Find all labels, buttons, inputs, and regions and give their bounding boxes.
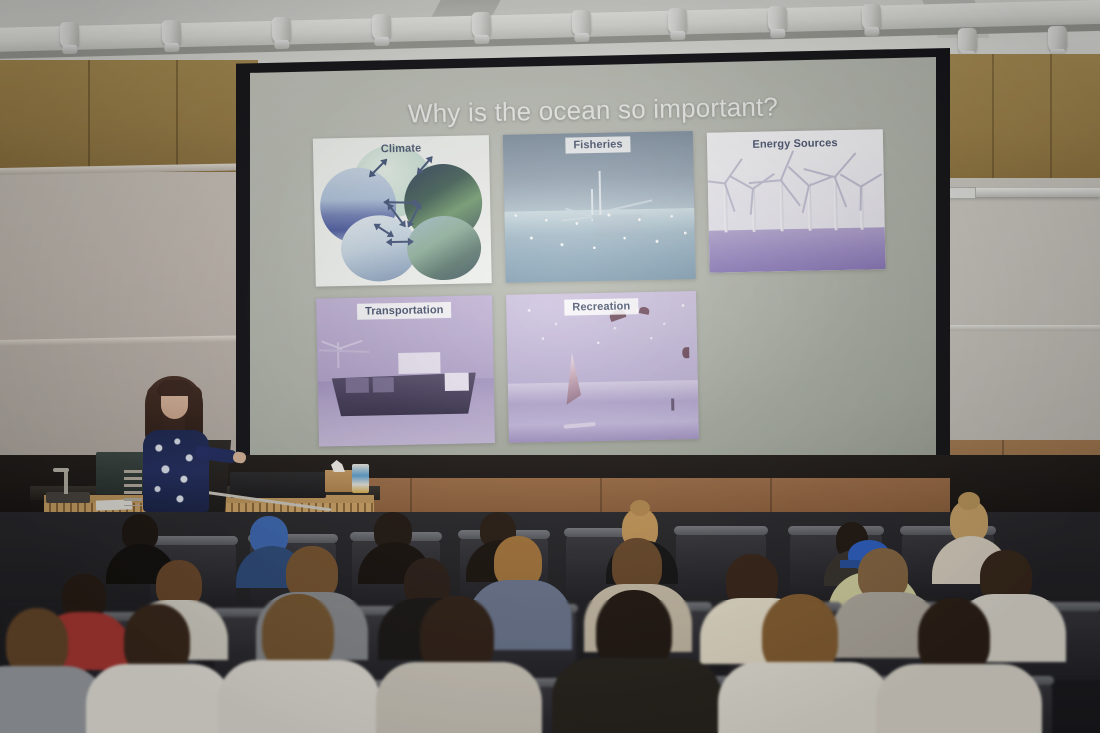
- energy-sea: [709, 227, 886, 273]
- confidence-monitor[interactable]: [230, 472, 326, 498]
- whiteboard-clip-icon: [948, 187, 976, 199]
- climate-arrow: [387, 241, 413, 244]
- spotlight-icon: [572, 10, 592, 37]
- distant-kitesurfer: [672, 398, 675, 410]
- student-shoulders: [218, 660, 380, 733]
- presenter: [135, 372, 231, 512]
- audience-seating-area: [0, 512, 1100, 733]
- hair-bun: [630, 500, 650, 516]
- slide-panel-fisheries: Fisheries: [503, 131, 696, 283]
- slide-panel-grid: Climate Fisheries: [313, 127, 879, 458]
- slide-caption-fisheries: Fisheries: [565, 136, 631, 153]
- lecture-hall-screenshot: Why is the ocean so important? Climate: [0, 0, 1100, 733]
- spotlight-icon: [1048, 26, 1068, 53]
- student-shoulders: [552, 658, 722, 733]
- whiteboard-mid-rail: [948, 325, 1100, 331]
- faucet-icon[interactable]: [64, 468, 68, 494]
- tissue-box[interactable]: [325, 470, 352, 492]
- slide-panel-recreation: Recreation: [506, 291, 699, 443]
- spotlight-icon: [958, 28, 978, 55]
- presenter-fringe: [157, 380, 193, 396]
- spotlight-icon: [372, 14, 392, 41]
- disinfecting-wipes-canister[interactable]: [352, 464, 369, 493]
- slide-title: Why is the ocean so important?: [250, 88, 936, 132]
- projection-screen: Why is the ocean so important? Climate: [250, 57, 936, 476]
- hair-bun: [958, 492, 980, 510]
- slide-caption-climate: Climate: [381, 142, 422, 155]
- sink: [46, 492, 90, 503]
- slide-panel-climate: Climate: [313, 135, 492, 287]
- slide-caption-transportation: Transportation: [357, 302, 452, 320]
- climate-circle-mountains: [406, 215, 481, 280]
- spotlight-icon: [768, 6, 788, 33]
- slide-panel-transportation: Transportation: [316, 295, 495, 447]
- presenter-floral-blouse: [143, 430, 209, 512]
- ship-bridge-house: [398, 352, 441, 374]
- spotlight-icon: [862, 4, 882, 31]
- upper-wood-panel-left: [0, 60, 258, 175]
- student-shoulders: [376, 662, 542, 733]
- spotlight-icon: [60, 22, 80, 49]
- upper-wood-panel-right: [940, 54, 1100, 182]
- spotlight-icon: [668, 8, 688, 35]
- recreation-sea: [508, 380, 699, 443]
- spotlight-icon: [472, 12, 492, 39]
- student-shoulders: [718, 662, 890, 733]
- suspension-bridge: [319, 342, 372, 369]
- kite-icon: [682, 347, 689, 358]
- slide-panel-energy-sources: Energy Sources: [707, 129, 886, 273]
- spotlight-icon: [162, 20, 182, 47]
- spotlight-icon: [272, 17, 292, 44]
- student-shoulders: [86, 664, 232, 733]
- slide-caption-recreation: Recreation: [564, 298, 638, 315]
- slide-caption-energy-sources: Energy Sources: [752, 137, 837, 151]
- seabird-flock: [504, 199, 695, 268]
- student-shoulders: [876, 664, 1042, 733]
